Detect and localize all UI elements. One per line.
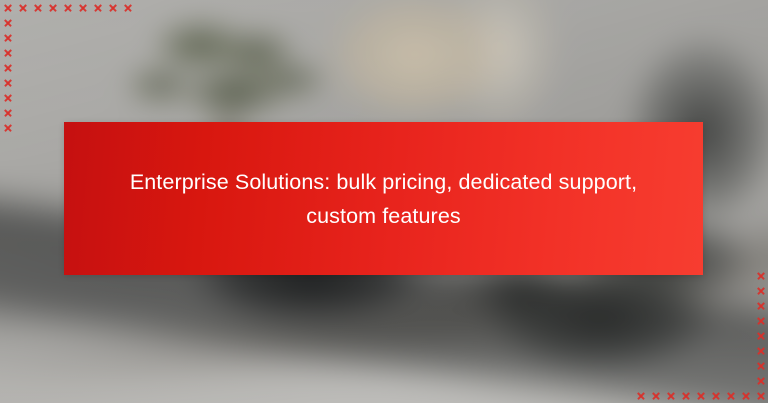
headline-banner: Enterprise Solutions: bulk pricing, dedi… [64,122,703,275]
headline-text: Enterprise Solutions: bulk pricing, dedi… [119,165,649,233]
banner-canvas: Enterprise Solutions: bulk pricing, dedi… [0,0,768,403]
